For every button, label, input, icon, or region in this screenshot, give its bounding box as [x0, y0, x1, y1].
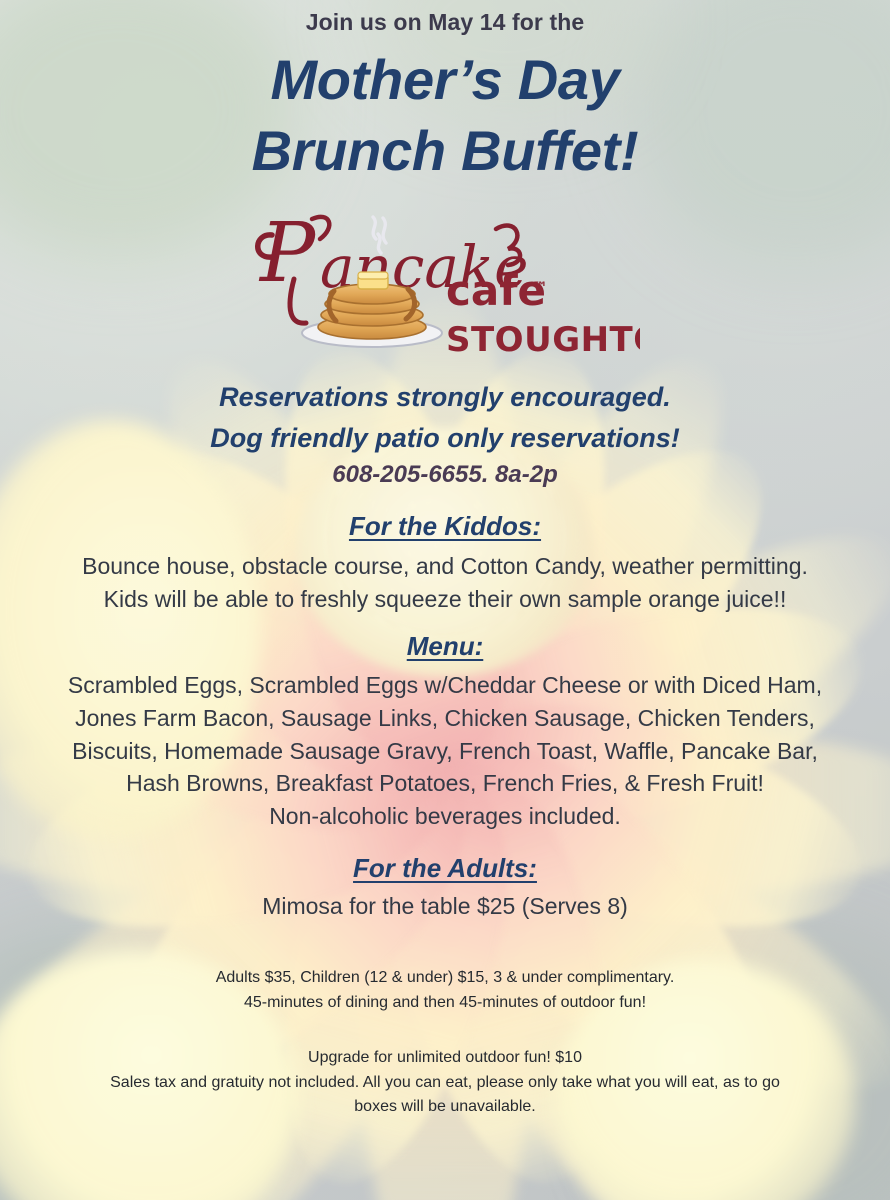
phone-number[interactable]: 608-205-6655. 8a-2p [0, 461, 890, 489]
menu-line: Scrambled Eggs, Scrambled Eggs w/Cheddar… [0, 669, 890, 702]
logo-location-text: STOUGHTON [446, 320, 640, 360]
pricing-line-2: 45-minutes of dining and then 45-minutes… [0, 991, 890, 1016]
menu-line: Jones Farm Bacon, Sausage Links, Chicken… [0, 702, 890, 735]
event-kicker: Join us on May 14 for the [0, 0, 890, 37]
logo-script-text: P [258, 206, 317, 301]
mothers-day-brunch-flyer: Join us on May 14 for the Mother’s Day B… [0, 0, 890, 1200]
section-heading-menu: Menu: [0, 631, 890, 662]
reservations-block: Reservations strongly encouraged. Dog fr… [0, 377, 890, 459]
logo-trademark: ™ [532, 278, 548, 297]
menu-body: Scrambled Eggs, Scrambled Eggs w/Cheddar… [0, 669, 890, 832]
pricing-block: Adults $35, Children (12 & under) $15, 3… [0, 966, 890, 1016]
butter-pat-icon [358, 272, 388, 289]
adults-body: Mimosa for the table $25 (Serves 8) [0, 890, 890, 923]
title-line-2: Brunch Buffet! [0, 115, 890, 187]
pricing-line-1: Adults $35, Children (12 & under) $15, 3… [0, 966, 890, 991]
title-line-1: Mother’s Day [270, 48, 619, 111]
menu-line: Biscuits, Homemade Sausage Gravy, French… [0, 735, 890, 768]
disclaimer-block: Upgrade for unlimited outdoor fun! $10 S… [0, 1046, 890, 1120]
reservations-line-2: Dog friendly patio only reservations! [0, 418, 890, 459]
reservations-line-1: Reservations strongly encouraged. [0, 377, 890, 418]
kiddos-line: Kids will be able to freshly squeeze the… [0, 583, 890, 616]
page-title: Mother’s Day Brunch Buffet! [0, 44, 890, 187]
section-heading-kiddos: For the Kiddos: [0, 511, 890, 542]
section-heading-adults: For the Adults: [0, 853, 890, 884]
kiddos-line: Bounce house, obstacle course, and Cotto… [0, 550, 890, 583]
flyer-content: Join us on May 14 for the Mother’s Day B… [0, 0, 890, 1200]
logo-artwork: P ancake [250, 205, 640, 365]
disclaimer-line-1: Upgrade for unlimited outdoor fun! $10 [0, 1046, 890, 1071]
disclaimer-line-3: boxes will be unavailable. [0, 1095, 890, 1120]
kiddos-body: Bounce house, obstacle course, and Cotto… [0, 550, 890, 615]
menu-line: Hash Browns, Breakfast Potatoes, French … [0, 767, 890, 800]
disclaimer-line-2: Sales tax and gratuity not included. All… [0, 1071, 890, 1096]
pancake-cafe-logo: P ancake [250, 205, 640, 365]
adults-line: Mimosa for the table $25 (Serves 8) [0, 890, 890, 923]
menu-line: Non-alcoholic beverages included. [0, 800, 890, 833]
logo-cafe-text: cafe [446, 266, 546, 315]
